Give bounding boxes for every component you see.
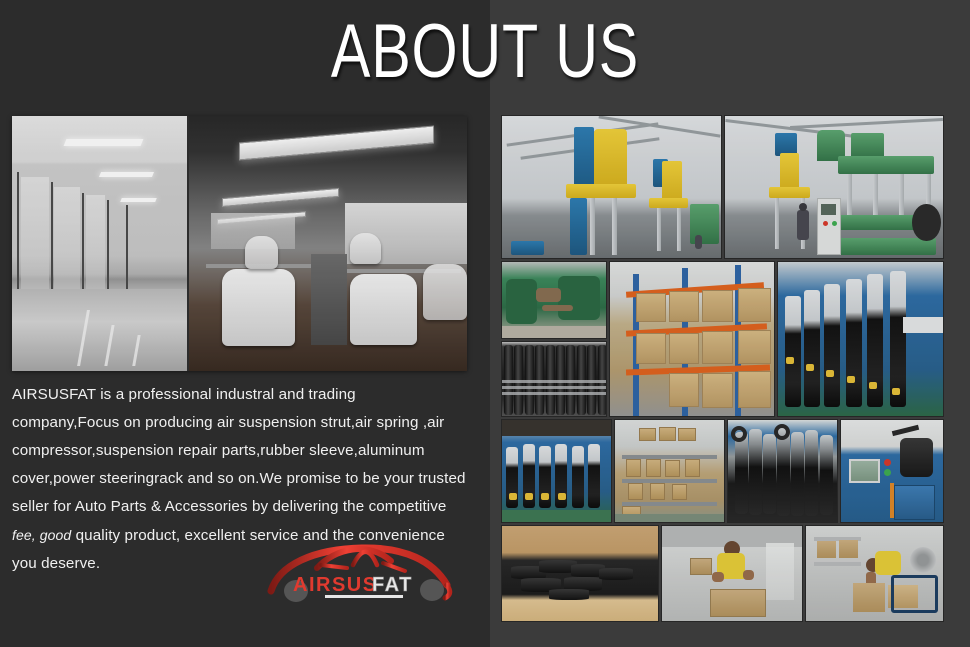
photo-office-desks	[187, 116, 467, 371]
photo-warehouse-racking	[610, 262, 774, 416]
photo-hydraulic-press-yellow-blue	[502, 116, 721, 258]
brand-logo: AIRSUS FAT	[265, 535, 465, 607]
left-photo-collage	[12, 116, 467, 371]
logo-underline	[325, 595, 403, 598]
photo-struts-blue-wall	[502, 420, 611, 522]
logo-word-secondary: FAT	[372, 574, 413, 596]
photo-worker-loading	[806, 526, 943, 621]
photo-office-corridor	[12, 116, 187, 371]
logo-wheel-right	[420, 579, 444, 601]
photo-stockroom-shelves	[615, 420, 724, 522]
photo-green-machinery	[502, 262, 606, 338]
right-photo-collage	[502, 116, 943, 621]
collage-row-1	[502, 116, 943, 258]
photo-strut-assembly	[728, 420, 837, 522]
collage-row-3	[502, 420, 943, 522]
photo-air-struts-blue	[778, 262, 943, 416]
collage-row-2-left-stack	[502, 262, 606, 416]
about-paragraph-emphasis: fee, good	[12, 527, 71, 543]
photo-rubber-bellows-row	[502, 342, 606, 416]
photo-carton-rubber-sleeves	[502, 526, 658, 621]
photo-worker-packing	[662, 526, 802, 621]
about-paragraph-part1: AIRSUSFAT is a professional industral an…	[12, 386, 466, 515]
collage-row-2	[502, 262, 943, 416]
collage-row-4	[502, 526, 943, 621]
page-title: ABOUT US	[107, 6, 864, 98]
car-silhouette-icon: AIRSUS FAT	[265, 535, 465, 607]
logo-word-primary: AIRSUS	[293, 574, 378, 596]
photo-test-machine-blue	[841, 420, 943, 522]
photo-hydraulic-press-green	[725, 116, 943, 258]
